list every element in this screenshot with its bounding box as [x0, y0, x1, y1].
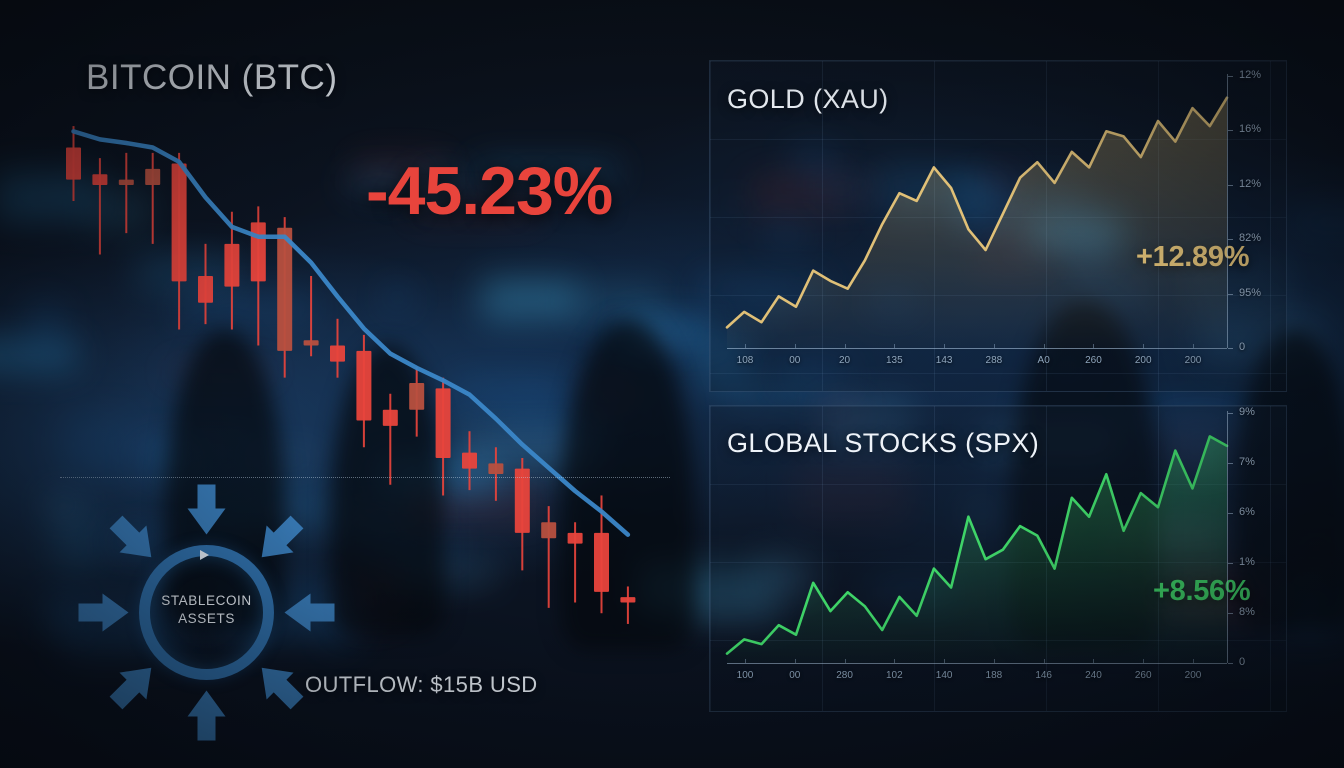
x-axis-tick-mark: [994, 659, 995, 663]
y-axis-tick-mark: [1228, 563, 1233, 564]
y-axis-tick-label: 16%: [1239, 123, 1261, 135]
x-axis-tick-label: 00: [789, 670, 800, 681]
y-axis-tick-label: 8%: [1239, 606, 1255, 618]
y-axis-tick-label: 12%: [1239, 178, 1261, 190]
y-axis-tick-label: 7%: [1239, 456, 1255, 468]
x-axis-tick-mark: [1193, 344, 1194, 348]
x-axis-tick-mark: [944, 344, 945, 348]
x-axis-tick-label: 200: [1135, 355, 1152, 366]
x-axis-tick-mark: [845, 344, 846, 348]
gold-area-chart: [709, 60, 1285, 390]
y-axis-tick-label: 0: [1239, 341, 1245, 353]
x-axis-tick-label: 240: [1085, 670, 1102, 681]
x-axis-tick-mark: [795, 659, 796, 663]
y-axis-tick-label: 6%: [1239, 506, 1255, 518]
x-axis-tick-mark: [894, 344, 895, 348]
y-axis-tick-mark: [1228, 513, 1233, 514]
y-axis-tick-mark: [1228, 185, 1233, 186]
x-axis-tick-label: A0: [1038, 355, 1050, 366]
x-axis-tick-mark: [795, 344, 796, 348]
y-axis-tick-label: 1%: [1239, 556, 1255, 568]
y-axis-tick-label: 82%: [1239, 232, 1261, 244]
x-axis-tick-mark: [1044, 659, 1045, 663]
x-axis-tick-mark: [1093, 344, 1094, 348]
y-axis-tick-mark: [1228, 663, 1233, 664]
x-axis-tick-label: 102: [886, 670, 903, 681]
x-axis-tick-mark: [1143, 344, 1144, 348]
x-axis-tick-mark: [1093, 659, 1094, 663]
x-axis-tick-mark: [1143, 659, 1144, 663]
x-axis-tick-label: 188: [986, 670, 1003, 681]
x-axis-tick-label: 00: [789, 355, 800, 366]
x-axis-tick-mark: [894, 659, 895, 663]
y-axis-tick-mark: [1228, 348, 1233, 349]
x-axis-line: [727, 663, 1227, 664]
x-axis-line: [727, 348, 1227, 349]
y-axis-tick-mark: [1228, 76, 1233, 77]
x-axis-tick-mark: [944, 659, 945, 663]
x-axis-tick-mark: [994, 344, 995, 348]
x-axis-tick-label: 108: [737, 355, 754, 366]
y-axis-tick-label: 9%: [1239, 406, 1255, 418]
y-axis-line: [1227, 74, 1228, 348]
outflow-label: OUTFLOW: $15B USD: [305, 672, 538, 698]
x-axis-tick-mark: [1193, 659, 1194, 663]
y-axis-tick-mark: [1228, 239, 1233, 240]
y-axis-tick-mark: [1228, 413, 1233, 414]
y-axis-tick-label: 12%: [1239, 69, 1261, 81]
x-axis-tick-label: 140: [936, 670, 953, 681]
stablecoin-label: STABLECOIN ASSETS: [139, 592, 274, 628]
x-axis-tick-label: 260: [1135, 670, 1152, 681]
x-axis-tick-label: 288: [986, 355, 1003, 366]
y-axis-tick-mark: [1228, 613, 1233, 614]
stablecoin-label-line2: ASSETS: [139, 610, 274, 628]
x-axis-tick-label: 260: [1085, 355, 1102, 366]
x-axis-tick-label: 200: [1185, 670, 1202, 681]
x-axis-tick-label: 20: [839, 355, 850, 366]
x-axis-tick-mark: [745, 344, 746, 348]
y-axis-tick-label: 0: [1239, 656, 1245, 668]
y-axis-tick-label: 95%: [1239, 287, 1261, 299]
stocks-area-chart: [709, 405, 1285, 710]
x-axis-tick-mark: [1044, 344, 1045, 348]
y-axis-tick-mark: [1228, 294, 1233, 295]
bitcoin-reference-line: [60, 477, 670, 478]
x-axis-tick-label: 146: [1035, 670, 1052, 681]
ring-play-marker-icon: [200, 550, 209, 560]
y-axis-line: [1227, 411, 1228, 663]
x-axis-tick-label: 143: [936, 355, 953, 366]
x-axis-tick-mark: [845, 659, 846, 663]
x-axis-tick-label: 280: [836, 670, 853, 681]
stablecoin-label-line1: STABLECOIN: [139, 592, 274, 610]
x-axis-tick-label: 200: [1185, 355, 1202, 366]
x-axis-tick-label: 135: [886, 355, 903, 366]
x-axis-tick-mark: [745, 659, 746, 663]
dashboard-root: BITCOIN (BTC) -45.23% STABLECOIN ASSETS …: [0, 0, 1344, 768]
y-axis-tick-mark: [1228, 130, 1233, 131]
x-axis-tick-label: 100: [737, 670, 754, 681]
y-axis-tick-mark: [1228, 463, 1233, 464]
